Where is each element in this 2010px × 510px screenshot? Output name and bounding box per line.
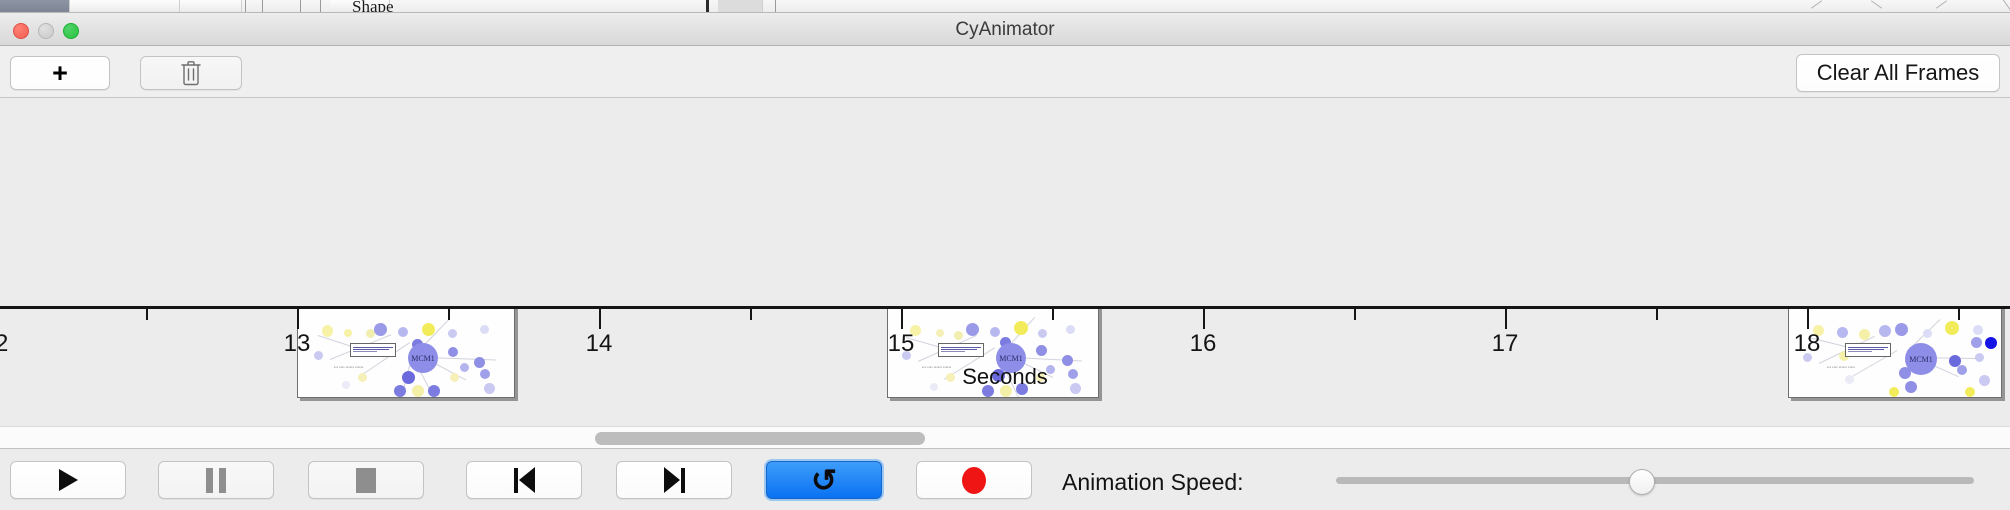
plus-icon: + [52,60,68,87]
bg-tab [718,0,763,13]
window-titlebar[interactable]: CyAnimator [0,13,2010,46]
bg-tick [320,0,321,13]
bg-tick [245,0,246,13]
ruler-baseline [0,306,2010,309]
ruler-tick-major [1203,309,1205,329]
stop-button[interactable] [308,461,424,499]
timeline-scrollbar[interactable] [0,426,2010,448]
skip-back-icon [514,467,535,493]
ruler-tick-label: 17 [1492,330,1519,358]
scrollbar-thumb[interactable] [595,432,925,445]
frame-toolbar: + Clear All Frames [0,46,2010,98]
skip-start-button[interactable] [466,461,582,499]
bg-tick [262,0,263,13]
bg-resize-mark [1936,0,1947,8]
animation-speed-label: Animation Speed: [1062,469,1244,496]
ruler-tick-major [1505,309,1507,329]
ruler-tick-minor [1656,309,1658,320]
loop-icon: ↺ [811,465,837,496]
ruler-tick-major [297,309,299,329]
axis-title: Seconds [0,364,2010,390]
bg-resize-mark [1811,0,1822,8]
bg-tab [70,0,180,13]
trash-icon [180,60,202,86]
ruler-tick-major [1807,309,1809,329]
play-icon [59,469,78,491]
ruler-tick-label: 12 [0,330,8,358]
playback-toolbar: ↺ Animation Speed: [0,448,2010,510]
ruler-tick-label: 15 [888,330,915,358]
bg-tick [706,0,709,13]
record-icon [962,467,986,494]
animation-speed-knob[interactable] [1629,469,1655,495]
ruler-tick-minor [750,309,752,320]
stop-icon [356,468,376,493]
timeline-panel[interactable]: MCM1 ▪▪▪ ▪▪▪▪ ▪▪▪▪▪▪ ▪▪▪▪▪▪ [0,98,2010,426]
pause-icon [206,468,226,493]
ruler-tick-label: 13 [284,330,311,358]
add-frame-button[interactable]: + [10,56,110,90]
ruler-tick-label: 14 [586,330,613,358]
delete-frame-button[interactable] [140,56,242,90]
ruler-tick-minor [1052,309,1054,320]
bg-resize-mark [1871,0,1882,8]
ruler-tick-minor [1958,309,1960,320]
play-button[interactable] [10,461,126,499]
skip-end-button[interactable] [616,461,732,499]
clear-all-frames-button[interactable]: Clear All Frames [1796,54,2000,92]
ruler-tick-minor [1354,309,1356,320]
ruler-tick-major [901,309,903,329]
animation-speed-slider[interactable] [1336,477,1974,484]
clear-all-frames-label: Clear All Frames [1817,60,1980,86]
timeline-ruler[interactable]: 12131415161718 Seconds [0,306,2010,426]
ruler-tick-minor [448,309,450,320]
bg-tick [300,0,301,13]
record-button[interactable] [916,461,1032,499]
ruler-tick-label: 16 [1190,330,1217,358]
bg-tab-selected [0,0,70,13]
bg-tab [180,0,242,13]
pause-button[interactable] [158,461,274,499]
bg-resize-mark [2002,0,2010,10]
loop-button[interactable]: ↺ [766,461,882,499]
bg-tick [775,0,776,13]
bg-window-partial-label: Shape [352,0,394,13]
ruler-tick-minor [146,309,148,320]
window-title: CyAnimator [0,19,2010,41]
cyanimator-window: CyAnimator + Clear All Frames [0,13,2010,510]
ruler-tick-major [599,309,601,329]
background-window-strip: Shape [0,0,2010,13]
skip-forward-icon [664,467,685,493]
ruler-tick-label: 18 [1794,330,1821,358]
